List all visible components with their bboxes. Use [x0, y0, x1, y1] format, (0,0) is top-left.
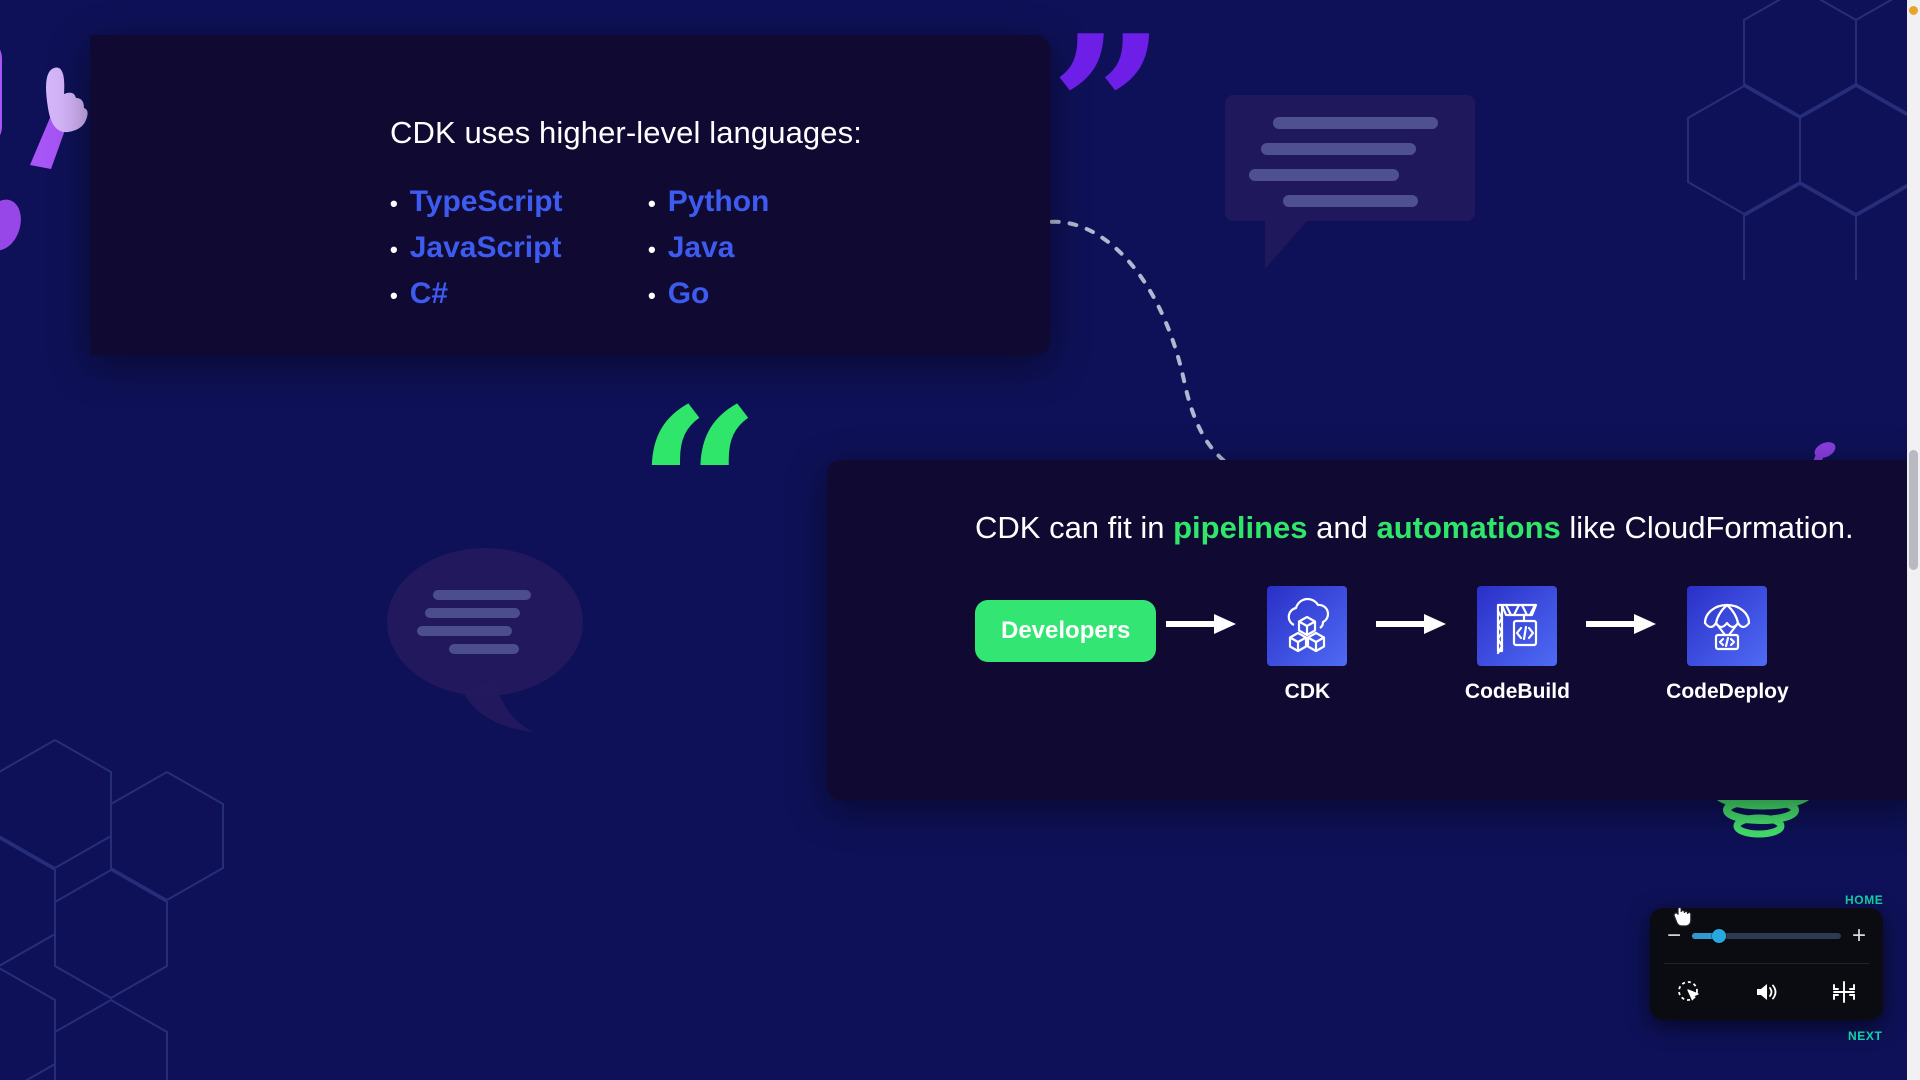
- hexagon-grid-top-right: [1670, 0, 1920, 280]
- highlight-automations: automations: [1376, 510, 1560, 545]
- arrow-right-icon: [1586, 613, 1658, 635]
- page-scrollbar[interactable]: [1907, 0, 1920, 1080]
- laser-pointer-icon[interactable]: [1669, 972, 1709, 1012]
- language-item: • JavaScript: [390, 233, 648, 263]
- pipeline-node-codebuild: CodeBuild: [1458, 586, 1576, 704]
- node-label-codedeploy: CodeDeploy: [1666, 680, 1789, 704]
- language-item: • Go: [648, 279, 906, 309]
- opening-quote-icon: “: [637, 380, 761, 595]
- language-item: • Python: [648, 187, 906, 217]
- speech-bubble-round-icon: [385, 540, 600, 735]
- pipeline-node-codedeploy: CodeDeploy: [1668, 586, 1786, 704]
- text-part: like CloudFormation.: [1561, 510, 1854, 545]
- language-column-1: • TypeScript • JavaScript • C#: [390, 187, 648, 325]
- next-button[interactable]: NEXT: [1848, 1029, 1882, 1043]
- quote-card-languages: ” CDK uses higher-level languages: • Typ…: [90, 35, 1050, 355]
- zoom-control-row: − +: [1650, 908, 1883, 963]
- pipeline-arrow-2: [1366, 586, 1458, 635]
- scroll-marker-dot: [1909, 6, 1918, 15]
- parachute-code-icon: [1687, 586, 1767, 666]
- cloud-cubes-icon: [1267, 586, 1347, 666]
- bullet-icon: •: [648, 193, 656, 215]
- zoom-out-button[interactable]: −: [1666, 924, 1682, 948]
- crane-code-icon: [1477, 586, 1557, 666]
- card-one-heading: CDK uses higher-level languages:: [390, 115, 1050, 151]
- pipeline-node-cdk: CDK: [1248, 586, 1366, 704]
- language-label: Go: [668, 279, 710, 309]
- language-label: TypeScript: [410, 187, 563, 217]
- language-item: • Java: [648, 233, 906, 263]
- bullet-icon: •: [390, 239, 398, 261]
- zoom-in-button[interactable]: +: [1851, 924, 1867, 948]
- language-item: • C#: [390, 279, 648, 309]
- hexagon-grid-bottom-left: [0, 730, 250, 1080]
- scrollbar-thumb[interactable]: [1909, 450, 1918, 570]
- slide-canvas: ” CDK uses higher-level languages: • Typ…: [0, 0, 1920, 1080]
- card-two-text: CDK can fit in pipelines and automations…: [975, 508, 1860, 548]
- closing-quote-icon: ”: [1050, 10, 1165, 210]
- pipeline-start: Developers: [975, 586, 1156, 662]
- bullet-icon: •: [648, 285, 656, 307]
- language-column-2: • Python • Java • Go: [648, 187, 906, 325]
- language-columns: • TypeScript • JavaScript • C# •: [390, 187, 1050, 325]
- player-control-panel: − +: [1650, 908, 1883, 1020]
- pipeline-diagram: Developers: [975, 586, 1860, 704]
- zoom-slider[interactable]: [1692, 933, 1841, 939]
- speech-bubble-rect-icon: [1225, 85, 1475, 275]
- language-label: Java: [668, 233, 735, 263]
- volume-icon[interactable]: [1746, 972, 1786, 1012]
- language-item: • TypeScript: [390, 187, 648, 217]
- highlight-pipelines: pipelines: [1173, 510, 1307, 545]
- fit-screen-icon[interactable]: [1824, 972, 1864, 1012]
- quote-card-pipelines: “ CDK can fit in pipelines and automatio…: [827, 460, 1920, 800]
- bullet-icon: •: [390, 193, 398, 215]
- text-part: CDK can fit in: [975, 510, 1173, 545]
- language-label: Python: [668, 187, 770, 217]
- bullet-icon: •: [390, 285, 398, 307]
- control-icon-row: [1650, 964, 1883, 1020]
- zoom-slider-knob[interactable]: [1712, 929, 1726, 943]
- arrow-right-icon: [1166, 613, 1238, 635]
- node-label-codebuild: CodeBuild: [1465, 680, 1570, 704]
- arrow-right-icon: [1376, 613, 1448, 635]
- home-button[interactable]: HOME: [1845, 893, 1883, 907]
- text-part: and: [1308, 510, 1377, 545]
- node-label-cdk: CDK: [1285, 680, 1331, 704]
- developers-pill: Developers: [975, 600, 1156, 662]
- pipeline-arrow-1: [1156, 586, 1248, 635]
- pipeline-arrow-3: [1576, 586, 1668, 635]
- language-label: JavaScript: [410, 233, 562, 263]
- dashed-curve-connector: [1030, 195, 1270, 485]
- language-label: C#: [410, 279, 448, 309]
- bullet-icon: •: [648, 239, 656, 261]
